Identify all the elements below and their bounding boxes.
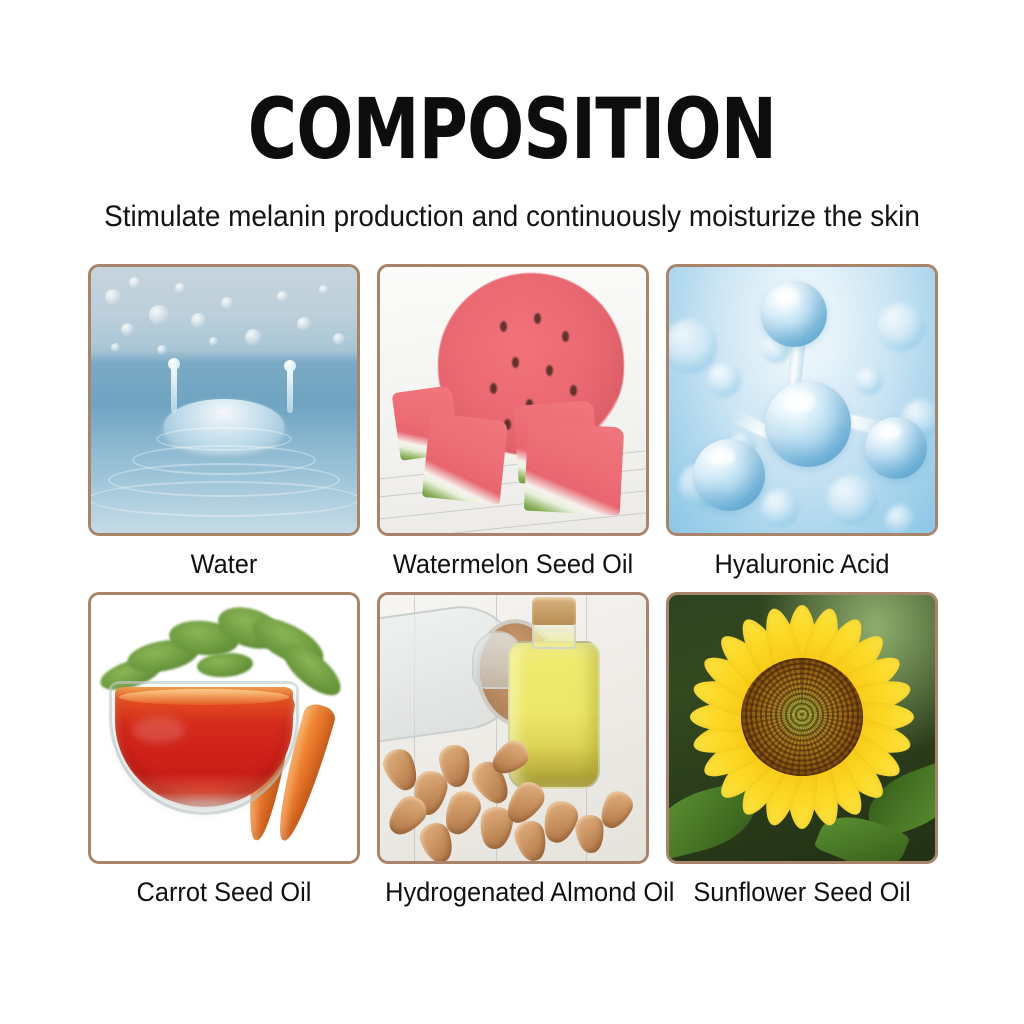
watermelon-slices-photo: [380, 267, 646, 533]
molecule-spheres-photo: [669, 267, 935, 533]
ingredient-label: Sunflower Seed Oil: [674, 876, 930, 908]
ingredient-card-watermelon-seed-oil[interactable]: [377, 264, 649, 536]
ingredient-card-sunflower-seed-oil[interactable]: [666, 592, 938, 864]
ingredient-cell-watermelon-seed-oil[interactable]: Watermelon Seed Oil: [377, 264, 649, 580]
composition-infographic: COMPOSITION Stimulate melanin production…: [0, 0, 1024, 1024]
ingredient-card-hyaluronic-acid[interactable]: [666, 264, 938, 536]
ingredient-cell-hyaluronic-acid[interactable]: Hyaluronic Acid: [666, 264, 938, 580]
ingredient-card-carrot-seed-oil[interactable]: [88, 592, 360, 864]
ingredient-label: Carrot Seed Oil: [96, 876, 352, 908]
ingredient-cell-carrot-seed-oil[interactable]: Carrot Seed Oil: [88, 592, 360, 908]
ingredient-label: Watermelon Seed Oil: [385, 548, 641, 580]
ingredient-label: Hydrogenated Almond Oil: [385, 876, 641, 908]
sunflower-bloom-photo: [669, 595, 935, 861]
ingredient-grid: Water: [88, 264, 938, 908]
ingredient-label: Hyaluronic Acid: [674, 548, 930, 580]
ingredient-cell-hydrogenated-almond-oil[interactable]: Hydrogenated Almond Oil: [377, 592, 649, 908]
page-subtitle: Stimulate melanin production and continu…: [36, 200, 988, 234]
ingredient-label: Water: [96, 548, 352, 580]
ingredient-cell-sunflower-seed-oil[interactable]: Sunflower Seed Oil: [666, 592, 938, 908]
almonds-oil-bottle-photo: [380, 595, 646, 861]
carrot-oil-bowl-photo: [91, 595, 357, 861]
ingredient-card-water[interactable]: [88, 264, 360, 536]
ingredient-card-hydrogenated-almond-oil[interactable]: [377, 592, 649, 864]
page-title: COMPOSITION: [102, 86, 921, 172]
water-splash-photo: [91, 267, 357, 533]
ingredient-cell-water[interactable]: Water: [88, 264, 360, 580]
